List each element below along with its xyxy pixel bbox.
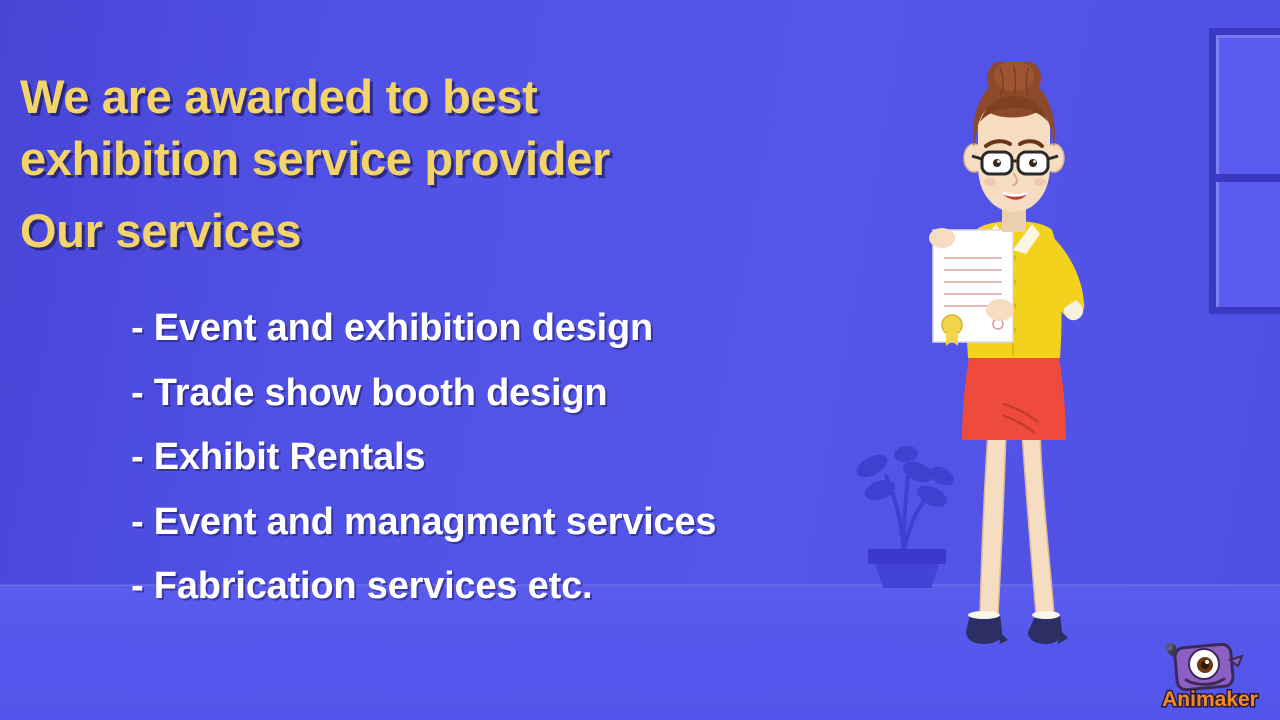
list-item: - Event and managment services [131, 490, 961, 555]
animaker-wordmark: Animaker [1162, 688, 1258, 711]
svg-text:Animaker: Animaker [1162, 688, 1258, 711]
list-item: - Event and exhibition design [131, 296, 961, 361]
animaker-mascot-icon [1165, 643, 1242, 690]
list-item: - Fabrication services etc. [131, 554, 961, 619]
video-frame: We are awarded to best exhibition servic… [0, 0, 1280, 720]
animaker-watermark: Animaker [1152, 638, 1268, 714]
window-mullion [1209, 174, 1280, 182]
heading-line-3: Our services [20, 200, 800, 262]
headings-block: We are awarded to best exhibition servic… [20, 66, 800, 262]
services-list: - Event and exhibition design - Trade sh… [131, 296, 961, 619]
window [1209, 28, 1280, 314]
heading-line-2: exhibition service provider [20, 128, 800, 190]
list-item: - Trade show booth design [131, 361, 961, 426]
window-pane-highlight [1216, 35, 1280, 307]
heading-line-1: We are awarded to best [20, 66, 800, 128]
list-item: - Exhibit Rentals [131, 425, 961, 490]
